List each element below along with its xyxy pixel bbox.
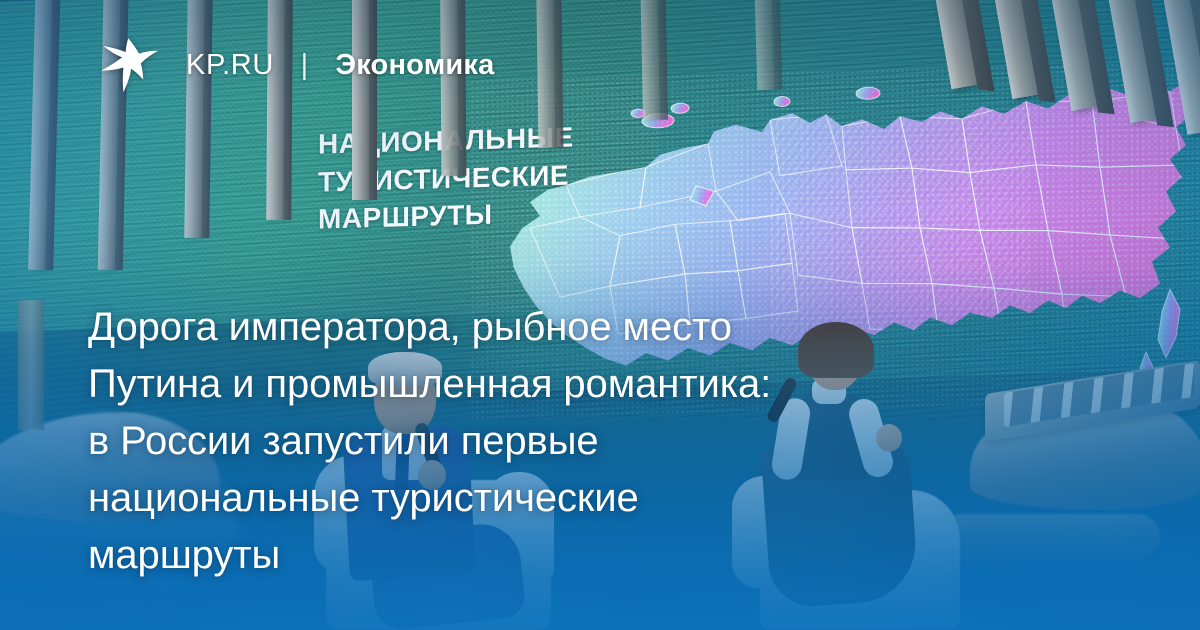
headline: Дорога императора, рыбное место Путина и… <box>88 299 988 584</box>
brand-separator: | <box>301 49 309 82</box>
headline-line: национальные туристические <box>88 470 988 527</box>
brand-name[interactable]: KP.RU <box>186 49 274 81</box>
headline-line: Дорога императора, рыбное место <box>88 299 988 356</box>
headline-line: Путина и промышленная романтика: <box>88 356 988 413</box>
headline-line: в России запустили первые <box>88 413 988 470</box>
brand-line: KP.RU | Экономика <box>186 49 494 82</box>
social-share-card: НАЦИОНАЛЬНЫЕ ТУРИСТИЧЕСКИЕ МАРШРУТЫ <box>0 0 1200 630</box>
headline-line: маршруты <box>88 527 988 584</box>
swallow-bird-logo-icon[interactable] <box>98 37 160 93</box>
card-header: KP.RU | Экономика <box>0 0 1200 130</box>
rubric-label[interactable]: Экономика <box>335 49 494 81</box>
